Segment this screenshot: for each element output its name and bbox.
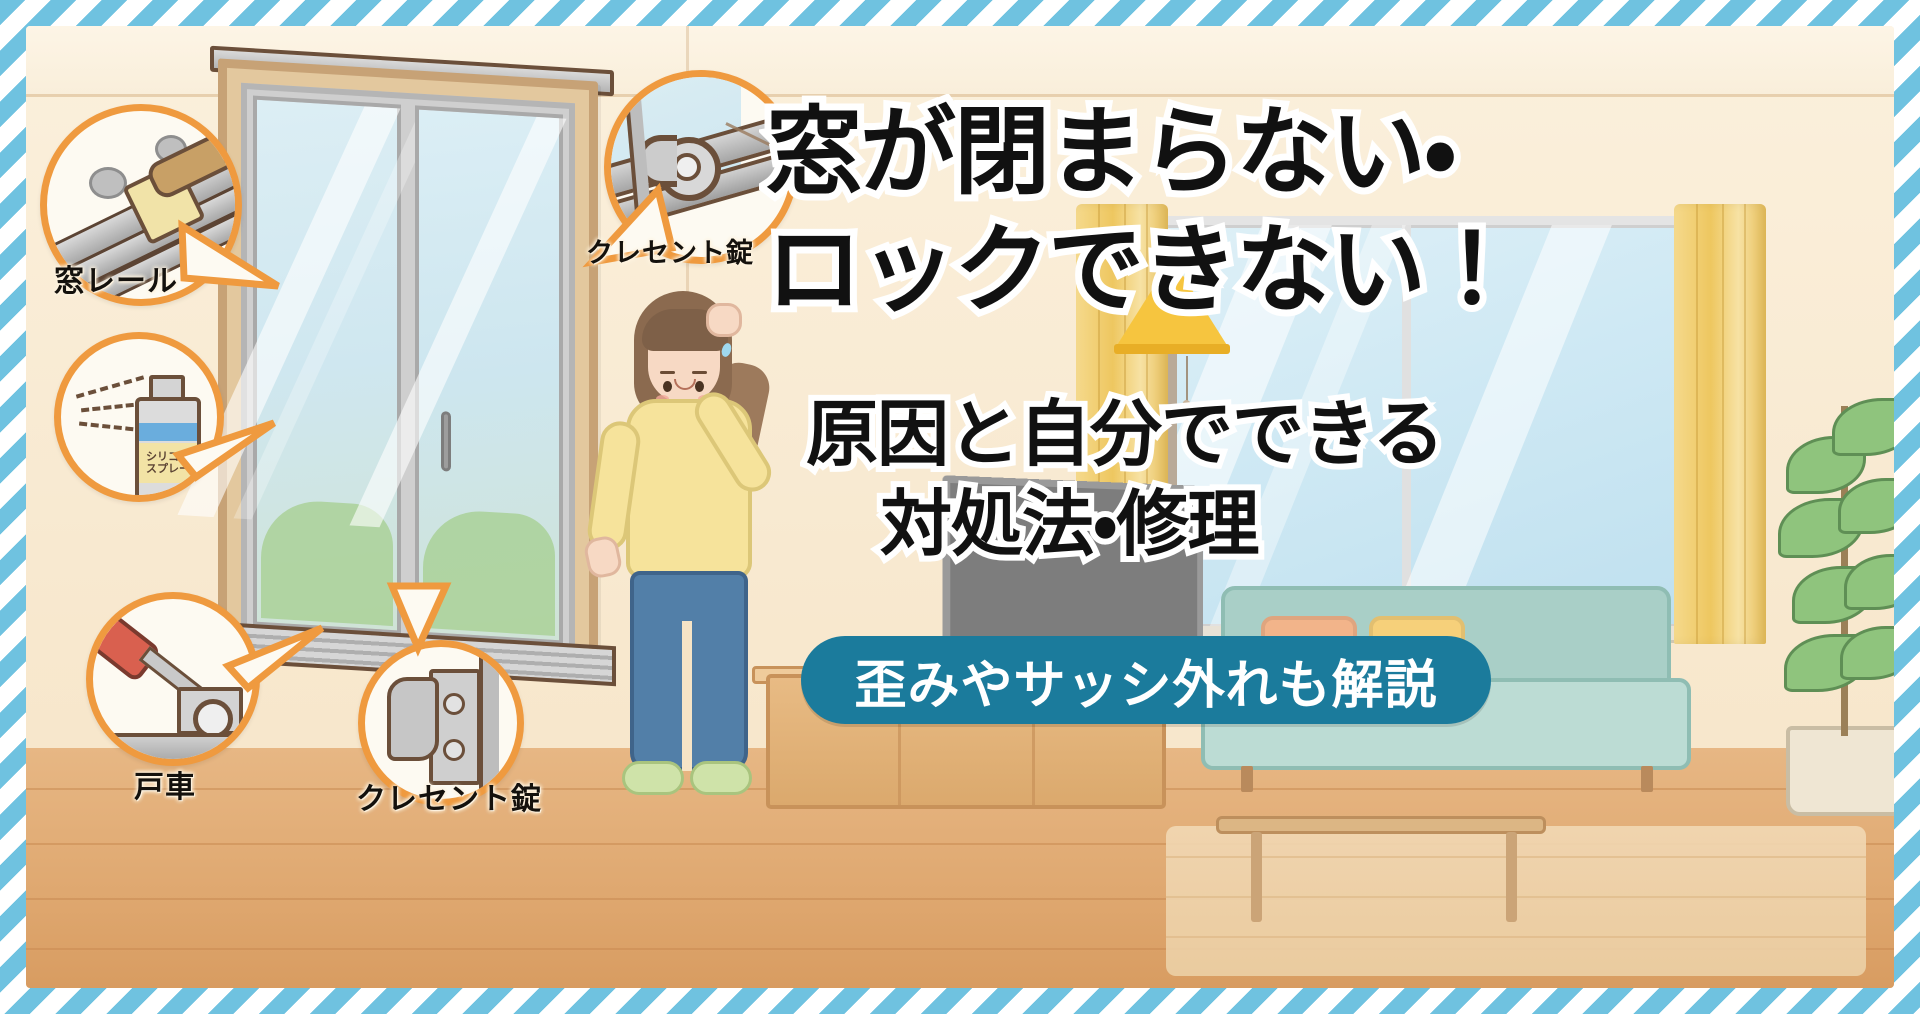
worried-woman-illustration bbox=[586, 291, 806, 831]
callout-pointer-spray bbox=[176, 421, 286, 481]
headline-line-2: ロックできない！ bbox=[766, 222, 1518, 318]
subheadline-line-2: 対処法・修理 bbox=[880, 488, 1444, 560]
callout-label-door-roller: 戸車 bbox=[134, 762, 196, 806]
striped-border-frame: 窓レール シリコン スプレー bbox=[0, 0, 1920, 1014]
feature-badge-label: 歪みやサッシ外れも解説 bbox=[854, 643, 1437, 718]
coffee-table bbox=[1216, 816, 1546, 834]
slipper-right bbox=[690, 761, 752, 795]
subheadline-block: 原因と自分でできる 対処法・修理 bbox=[806, 398, 1444, 560]
window-handle bbox=[441, 411, 451, 472]
roller-rail-icon bbox=[93, 733, 253, 761]
callout-label-window-rail: 窓レール bbox=[54, 256, 178, 300]
curtain-right bbox=[1674, 204, 1766, 644]
callout-pointer-rail bbox=[178, 222, 288, 302]
screwdriver-handle-icon bbox=[86, 605, 162, 684]
crescent-lever-icon bbox=[387, 677, 439, 761]
plant-pot bbox=[1786, 726, 1894, 816]
subheadline-line-1: 原因と自分でできる bbox=[806, 398, 1444, 470]
callout-label-crescent-top: クレセント錠 bbox=[586, 231, 754, 270]
headline-block: 窓が閉まらない・ ロックできない！ bbox=[766, 104, 1518, 318]
poster-inner-area: 窓レール シリコン スプレー bbox=[26, 26, 1894, 988]
window-glass-left bbox=[253, 96, 401, 635]
right-hand bbox=[706, 303, 742, 337]
window-glass-right bbox=[415, 105, 563, 644]
callout-pointer-crescent-bottom bbox=[382, 582, 472, 654]
headline-line-1: 窓が閉まらない・ bbox=[766, 104, 1518, 200]
floor-lamp-shade-base bbox=[1114, 344, 1230, 354]
callout-label-crescent-bottom: クレセント錠 bbox=[356, 774, 542, 818]
window-sash bbox=[241, 83, 575, 657]
slipper-left bbox=[622, 761, 684, 795]
leg-gap bbox=[682, 621, 692, 771]
callout-pointer-roller bbox=[226, 626, 336, 696]
poster-canvas: 窓レール シリコン スプレー bbox=[0, 0, 1920, 1014]
feature-badge[interactable]: 歪みやサッシ外れも解説 bbox=[801, 636, 1491, 724]
